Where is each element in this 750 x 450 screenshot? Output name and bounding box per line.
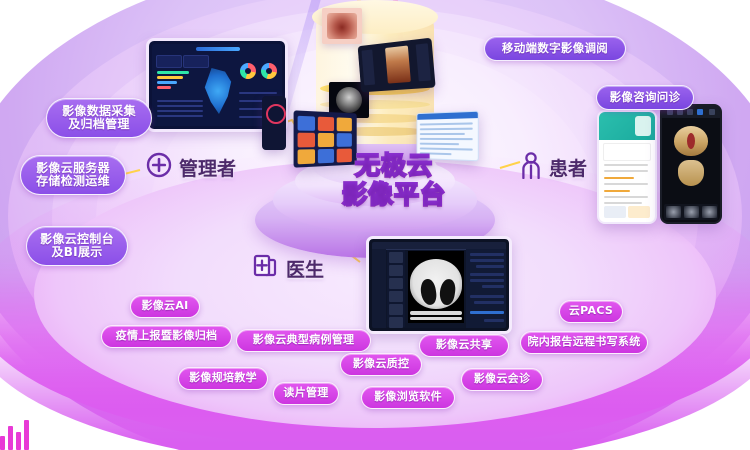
endoscopy-image — [322, 8, 362, 44]
pill-image-consultation[interactable]: 影像咨询问诊 — [596, 85, 694, 110]
platform-title: 无极云 影像平台 — [330, 152, 458, 209]
pacs-ct-viewer — [366, 236, 512, 334]
viewer-thumbnail[interactable] — [684, 206, 699, 218]
bi-kpi-1 — [156, 55, 182, 68]
pill-film-reading-management[interactable]: 读片管理 — [273, 382, 339, 405]
pelvis — [678, 160, 704, 186]
pacs-info-row — [484, 319, 504, 322]
chart-bar — [24, 420, 29, 450]
report-header — [417, 112, 477, 120]
bi-table-row — [157, 100, 203, 102]
patient-info-row — [604, 177, 634, 179]
pacs-info-row — [474, 301, 504, 304]
patient-app-header — [599, 112, 655, 140]
bi-table-row — [157, 110, 203, 112]
ct-table-band — [410, 317, 462, 320]
pill-standardized-teaching[interactable]: 影像规培教学 — [178, 367, 268, 390]
pill-image-cloud-consultation[interactable]: 影像云会诊 — [461, 368, 543, 391]
bi-table-row — [157, 115, 203, 117]
circle-plus-icon — [146, 152, 172, 182]
tool-icon-active[interactable] — [697, 109, 703, 115]
pacs-tool-rail — [372, 249, 386, 328]
tool-icon[interactable] — [687, 109, 693, 115]
pacs-thumbnail — [389, 317, 403, 328]
bi-bar-4 — [157, 86, 171, 89]
ct-table-band — [410, 311, 462, 315]
report-row — [420, 138, 473, 140]
chart-bar — [16, 432, 21, 450]
doctor-avatar-icon — [635, 116, 651, 136]
patient-info-row — [604, 183, 648, 185]
pill-epidemic-report-archive[interactable]: 疫情上报暨影像归档 — [101, 325, 232, 348]
bi-table-row — [239, 92, 277, 94]
ct-lung-left — [419, 278, 437, 306]
patient-app-phone — [597, 110, 657, 224]
report-button[interactable] — [604, 206, 626, 218]
pacs-thumbnail-strip — [387, 250, 405, 327]
patient-info-row — [604, 190, 630, 192]
pacs-info-row — [470, 273, 504, 276]
document-plus-icon — [252, 253, 279, 283]
patient-info-row — [604, 164, 648, 166]
bi-kpi-2 — [183, 55, 209, 68]
pill-image-cloud-console[interactable]: 影像云控制台 及BI展示 — [26, 226, 128, 266]
skeleton-viewer-phone — [660, 104, 722, 224]
report-row — [420, 143, 459, 146]
pill-image-viewer-software[interactable]: 影像浏览软件 — [361, 386, 455, 409]
report-row — [420, 128, 473, 131]
pill-image-cloud-sharing[interactable]: 影像云共享 — [419, 334, 509, 357]
app-tile — [298, 133, 315, 148]
role-administrator[interactable]: 管理者 — [146, 152, 236, 182]
patient-info-row — [604, 196, 648, 198]
skeleton-3d-render — [674, 126, 708, 192]
pacs-content — [372, 242, 506, 328]
role-doctor[interactable]: 医生 — [252, 253, 324, 283]
app-tile — [318, 133, 334, 147]
report-row — [420, 122, 473, 125]
medical-image-screen — [358, 38, 436, 93]
pacs-info-row — [476, 265, 504, 268]
pacs-action-button[interactable] — [470, 311, 504, 314]
monitor-widget-screen — [262, 96, 286, 150]
pacs-thumbnail — [389, 304, 403, 315]
role-doctor-label: 医生 — [286, 255, 324, 282]
platform-title-line-2: 影像平台 — [330, 181, 458, 210]
viewer-thumbnail[interactable] — [702, 206, 717, 218]
patient-info-row — [604, 170, 648, 172]
infographic-canvas: 无极云 影像平台 管理者 患者 — [0, 0, 750, 450]
hospital-card — [603, 143, 651, 161]
pill-image-cloud-ai[interactable]: 影像云AI — [130, 295, 200, 318]
pacs-info-row — [470, 295, 504, 298]
pill-remote-report-writing[interactable]: 院内报告远程书写系统 — [520, 331, 648, 354]
bi-donut-1 — [240, 63, 256, 79]
role-patient[interactable]: 患者 — [520, 152, 587, 183]
app-tile — [318, 117, 334, 131]
viewer-thumbnail-bar — [664, 204, 718, 220]
bi-bar-1 — [157, 71, 189, 74]
app-tile — [298, 116, 315, 131]
pacs-info-panel — [466, 249, 506, 328]
endoscopy-photo — [327, 13, 357, 39]
pacs-thumbnail — [389, 252, 403, 263]
image-sidebar-right — [416, 43, 431, 81]
pill-mobile-digital-imaging[interactable]: 移动端数字影像调阅 — [484, 36, 626, 61]
pill-image-cloud-qc[interactable]: 影像云质控 — [340, 353, 422, 376]
bi-title-bar — [196, 47, 240, 51]
ultrasound-image — [336, 87, 362, 113]
angiography-image — [385, 45, 411, 83]
pill-typical-case-management[interactable]: 影像云典型病例管理 — [236, 329, 371, 352]
ct-thorax — [410, 259, 462, 309]
ct-lung-right — [438, 278, 456, 306]
pacs-thumbnail — [389, 291, 403, 302]
bi-map — [201, 68, 235, 114]
image-button[interactable] — [628, 206, 650, 218]
role-patient-label: 患者 — [549, 154, 587, 181]
chart-bar — [0, 436, 5, 450]
pacs-info-row — [470, 279, 504, 282]
bi-table-row — [157, 105, 203, 107]
bi-donut-2 — [261, 63, 277, 79]
image-sidebar-left — [362, 49, 376, 85]
viewer-thumbnail[interactable] — [666, 206, 681, 218]
bi-bar-3 — [157, 81, 177, 84]
app-tile — [337, 133, 352, 147]
tool-icon[interactable] — [709, 109, 715, 115]
pill-cloud-pacs[interactable]: 云PACS — [559, 300, 623, 323]
app-tile — [298, 149, 315, 164]
ct-image-viewport — [408, 251, 464, 323]
app-tile — [337, 117, 352, 131]
pill-image-data-collection[interactable]: 影像数据采集 及归档管理 — [46, 98, 152, 138]
bi-bar-2 — [157, 76, 183, 79]
patient-info-row — [604, 202, 642, 204]
ribcage — [674, 126, 708, 156]
chart-bar — [8, 426, 13, 450]
role-administrator-label: 管理者 — [179, 154, 236, 181]
report-row — [420, 133, 465, 135]
person-icon — [520, 152, 542, 183]
pacs-info-row — [470, 253, 504, 256]
pacs-thumbnail — [389, 265, 403, 276]
pacs-info-row — [482, 285, 504, 288]
pacs-thumbnail — [389, 278, 403, 289]
platform-title-line-1: 无极云 — [330, 152, 458, 181]
pill-image-cloud-server[interactable]: 影像云服务器 存储检测运维 — [20, 155, 126, 195]
pacs-info-row — [470, 259, 504, 262]
